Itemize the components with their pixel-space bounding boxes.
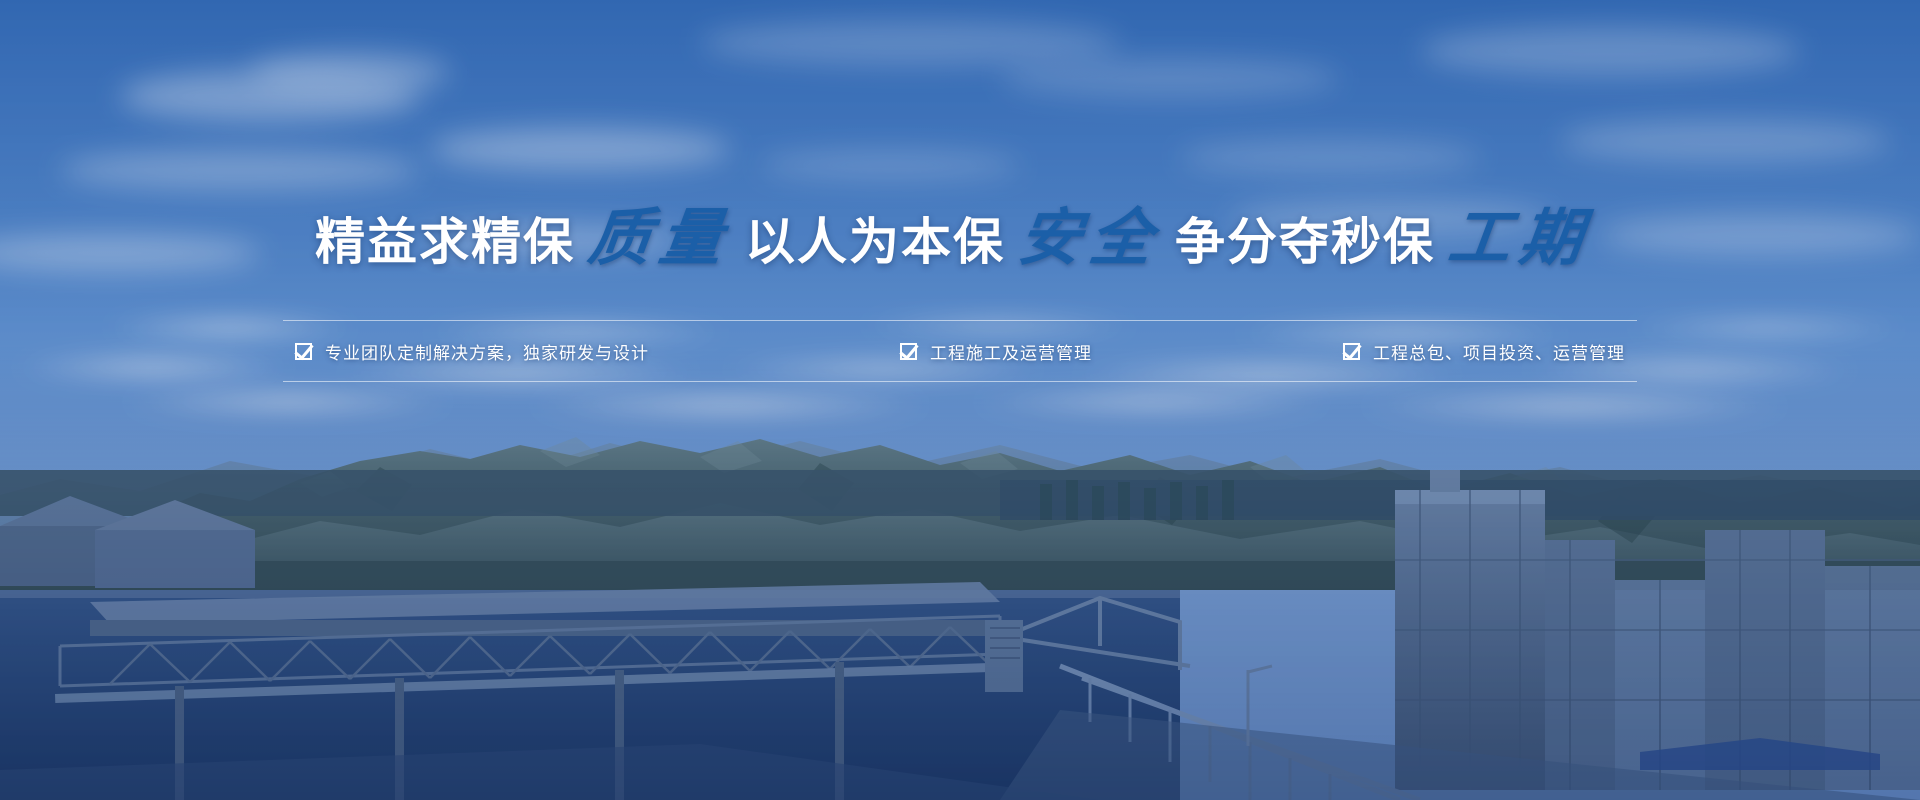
checkbox-checked-icon [1343, 343, 1360, 360]
feature-list: 专业团队定制解决方案，独家研发与设计 工程施工及运营管理 工程总包、项目投资、运… [283, 321, 1637, 381]
feature-item-1-label: 专业团队定制解决方案，独家研发与设计 [325, 339, 649, 364]
headline-segment-3: 以人为本保 [745, 217, 1005, 267]
headline-segment-1: 精益求精保 [315, 217, 575, 267]
feature-item-2-label: 工程施工及运营管理 [930, 339, 1092, 364]
headline-segment-4-safety: 安全 [1001, 207, 1179, 269]
divider-bottom [283, 381, 1637, 382]
feature-item-3-label: 工程总包、项目投资、运营管理 [1373, 339, 1625, 364]
headline: 精益求精保 质量 以人为本保 安全 争分夺秒保 工期 [0, 196, 1920, 288]
feature-item-2: 工程施工及运营管理 [900, 339, 1092, 364]
feature-item-1: 专业团队定制解决方案，独家研发与设计 [295, 339, 649, 364]
checkbox-checked-icon [900, 343, 917, 360]
headline-segment-2-quality: 质量 [571, 207, 749, 269]
checkbox-checked-icon [295, 343, 312, 360]
banner-text-overlay: 精益求精保 质量 以人为本保 安全 争分夺秒保 工期 专业团队定制解决方案，独家… [0, 0, 1920, 800]
hero-banner: 精益求精保 质量 以人为本保 安全 争分夺秒保 工期 专业团队定制解决方案，独家… [0, 0, 1920, 800]
feature-item-3: 工程总包、项目投资、运营管理 [1343, 339, 1625, 364]
headline-segment-5: 争分夺秒保 [1175, 217, 1435, 267]
headline-segment-6-schedule: 工期 [1431, 207, 1609, 269]
